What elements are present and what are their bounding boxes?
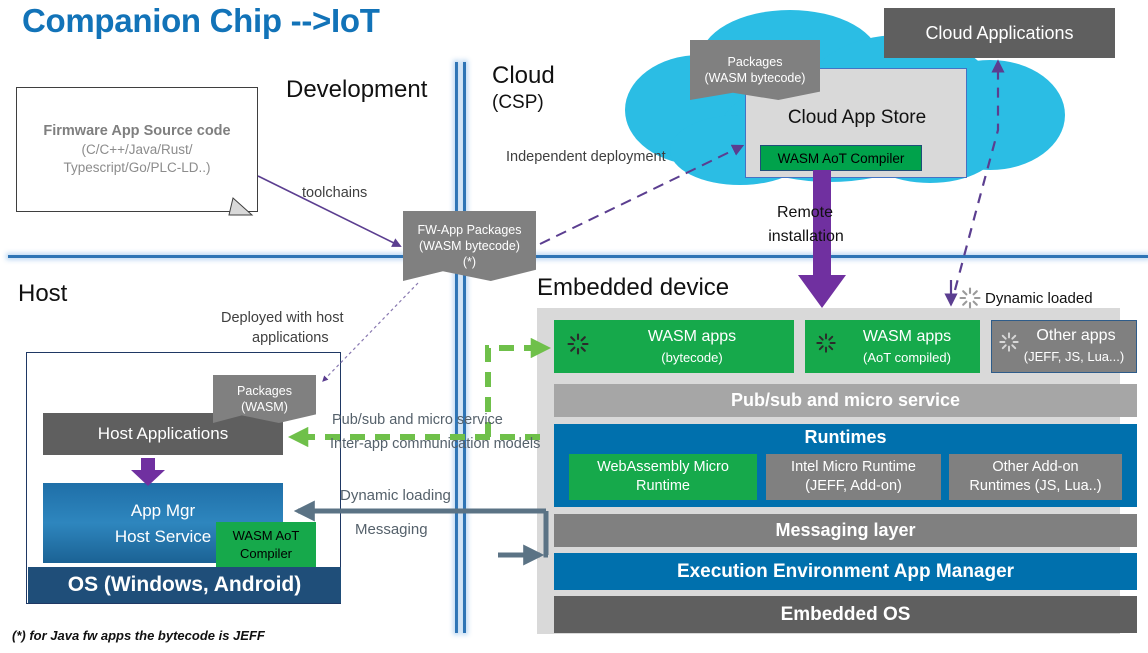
spinner-icon-legend <box>958 286 982 310</box>
label-dynamic-loading: Dynamic loading <box>340 487 451 504</box>
runtime-0: WebAssembly Micro Runtime <box>569 454 757 500</box>
host-os-label: OS (Windows, Android) <box>68 573 302 597</box>
label-messaging: Messaging <box>355 521 428 538</box>
embedded-app-1-line1: WASM apps <box>837 328 977 346</box>
embedded-app-0-line1: WASM apps <box>592 328 792 346</box>
source-box-line1: (C/C++/Java/Rust/ <box>81 141 192 159</box>
label-independent-deployment: Independent deployment <box>506 149 666 165</box>
runtime-0-line1: WebAssembly Micro <box>569 459 757 475</box>
embedded-app-1-line2: (AoT compiled) <box>837 350 977 365</box>
slide-canvas: Companion Chip -->IoT Development Cloud … <box>0 0 1148 653</box>
embedded-app-1: WASM apps (AoT compiled) <box>805 320 980 373</box>
cloud-packages-line2: (WASM bytecode) <box>705 70 806 86</box>
host-packages-callout: Packages (WASM) <box>213 375 316 423</box>
app-mgr-line1: App Mgr <box>43 501 283 521</box>
embedded-os-label: Embedded OS <box>781 604 911 626</box>
embedded-runtimes-title: Runtimes <box>554 427 1137 448</box>
label-pubsub-models-1: Pub/sub and micro service <box>332 412 503 428</box>
embedded-app-0: WASM apps (bytecode) <box>554 320 794 373</box>
zone-heading-host: Host <box>18 280 67 308</box>
footnote: (*) for Java fw apps the bytecode is JEF… <box>12 628 265 643</box>
label-pubsub-models-2: Inter-app communication models <box>330 436 540 452</box>
runtime-1: Intel Micro Runtime (JEFF, Add-on) <box>766 454 941 500</box>
runtime-2-line1: Other Add-on <box>949 459 1122 475</box>
fw-packages-line2: (WASM bytecode) <box>419 238 520 254</box>
label-remote-installation-2: installation <box>760 228 852 246</box>
fw-packages-line3: (*) <box>463 254 476 270</box>
spinner-icon <box>815 332 837 354</box>
host-aot-line1: WASM AoT <box>216 528 316 543</box>
zone-heading-development: Development <box>286 76 427 104</box>
embedded-messaging-layer-label: Messaging layer <box>775 520 915 541</box>
host-packages-line1: Packages <box>237 383 292 399</box>
runtime-1-line1: Intel Micro Runtime <box>766 459 941 475</box>
label-toolchains: toolchains <box>302 185 367 201</box>
spinner-icon <box>566 332 590 356</box>
zone-heading-embedded: Embedded device <box>537 274 729 302</box>
zone-heading-cloud: Cloud <box>492 62 555 90</box>
zone-subheading-csp: (CSP) <box>492 92 544 114</box>
embedded-app-2-line1: Other apps <box>1020 327 1132 345</box>
host-aot-line2: Compiler <box>216 546 316 561</box>
label-deployed-2: applications <box>252 330 329 346</box>
cloud-applications-box: Cloud Applications <box>884 8 1115 58</box>
firmware-source-code-box: Firmware App Source code (C/C++/Java/Rus… <box>16 87 258 212</box>
host-os-box: OS (Windows, Android) <box>28 567 341 603</box>
host-packages-line2: (WASM) <box>241 399 288 415</box>
runtime-2: Other Add-on Runtimes (JS, Lua..) <box>949 454 1122 500</box>
runtime-1-line2: (JEFF, Add-on) <box>766 478 941 494</box>
label-deployed-1: Deployed with host <box>221 310 344 326</box>
cloud-aot-compiler-label: WASM AoT Compiler <box>778 151 905 166</box>
embedded-app-manager-bar: Execution Environment App Manager <box>554 553 1137 590</box>
host-applications-box: Host Applications <box>43 413 283 455</box>
embedded-messaging-layer-bar: Messaging layer <box>554 514 1137 547</box>
cloud-aot-compiler-box: WASM AoT Compiler <box>760 145 922 171</box>
embedded-app-2: Other apps (JEFF, JS, Lua...) <box>991 320 1137 373</box>
runtime-0-line2: Runtime <box>569 478 757 494</box>
fw-packages-line1: FW-App Packages <box>418 222 522 238</box>
source-box-heading: Firmware App Source code <box>43 122 230 142</box>
dynamic-loaded-legend-label: Dynamic loaded <box>985 290 1093 307</box>
embedded-os-bar: Embedded OS <box>554 596 1137 633</box>
runtime-2-line2: Runtimes (JS, Lua..) <box>949 478 1122 494</box>
embedded-app-manager-label: Execution Environment App Manager <box>677 561 1014 583</box>
embedded-runtimes-block: Runtimes WebAssembly Micro Runtime Intel… <box>554 424 1137 507</box>
cloud-applications-label: Cloud Applications <box>925 23 1073 44</box>
label-remote-installation-1: Remote <box>766 204 844 222</box>
cloud-packages-line1: Packages <box>728 54 783 70</box>
page-title: Companion Chip -->IoT <box>22 2 380 40</box>
source-box-line2: Typescript/Go/PLC-LD..) <box>63 159 210 177</box>
fw-app-packages-callout: FW-App Packages (WASM bytecode) (*) <box>403 211 536 281</box>
cloud-app-store-label: Cloud App Store <box>746 107 968 129</box>
embedded-device-panel: WASM apps (bytecode) WASM apps (AoT comp… <box>537 308 1120 634</box>
embedded-pubsub-label: Pub/sub and micro service <box>731 390 960 411</box>
horizontal-divider <box>8 255 1148 258</box>
host-aot-compiler-box: WASM AoT Compiler <box>216 522 316 569</box>
host-applications-label: Host Applications <box>98 424 228 444</box>
embedded-pubsub-bar: Pub/sub and micro service <box>554 384 1137 417</box>
embedded-app-2-line2: (JEFF, JS, Lua...) <box>1012 349 1136 364</box>
cloud-packages-callout: Packages (WASM bytecode) <box>690 40 820 100</box>
embedded-app-0-line2: (bytecode) <box>592 350 792 365</box>
